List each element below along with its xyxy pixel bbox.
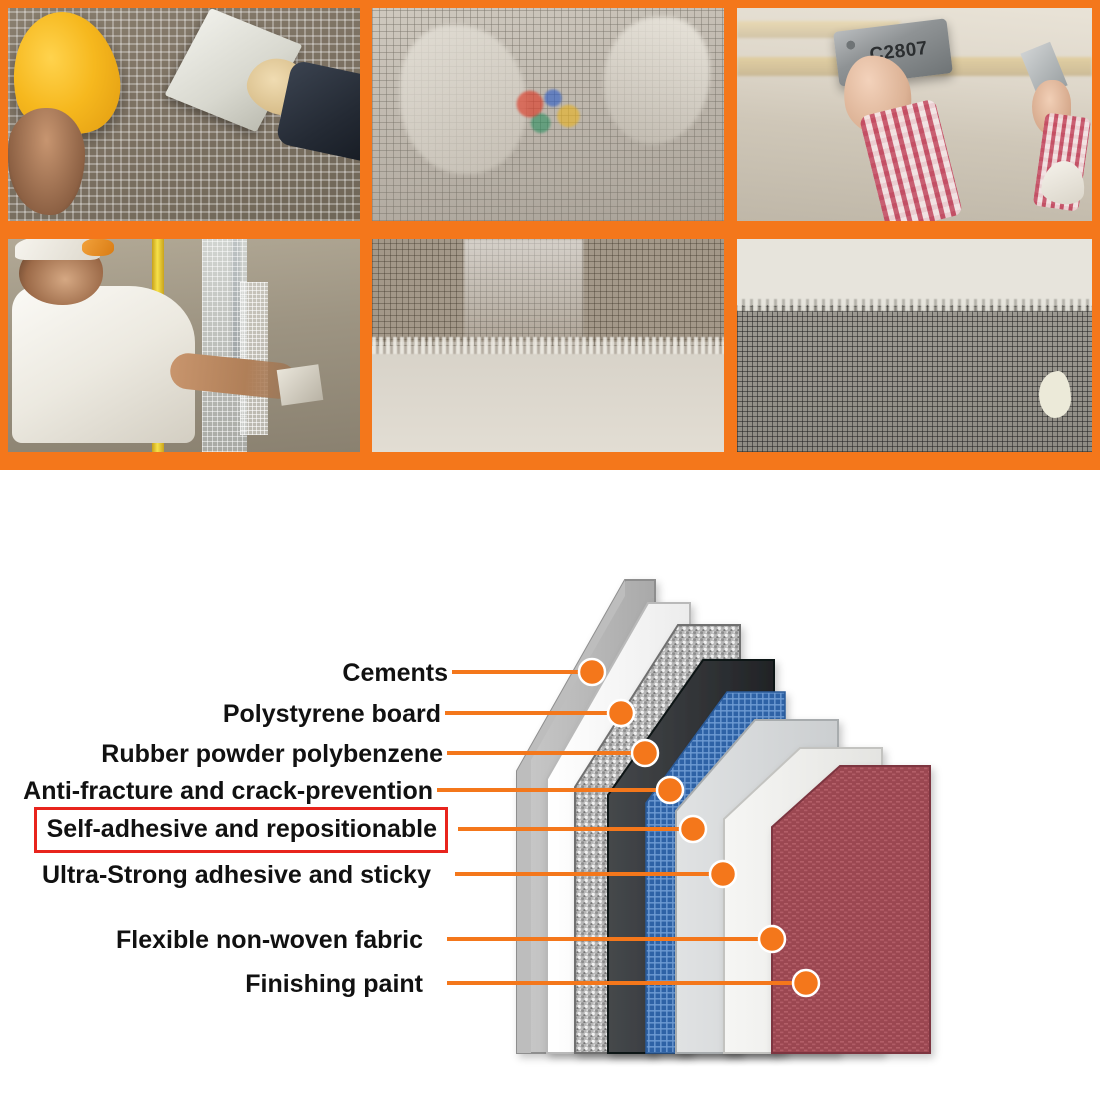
callout-label-polystyrene-board[interactable]: Polystyrene board — [223, 699, 441, 730]
callout-label-flexible-nonwoven-fabric[interactable]: Flexible non-woven fabric — [116, 925, 423, 956]
callout-dot-self-adhesive — [680, 816, 706, 842]
render-edge — [372, 337, 724, 354]
plate-logo-icon — [842, 37, 860, 53]
worker-head — [8, 108, 85, 215]
callout-dot-rubber-powder — [632, 740, 658, 766]
photo-background — [372, 239, 724, 452]
mesh-region — [737, 305, 1092, 452]
callout-label-finishing-paint[interactable]: Finishing paint — [245, 969, 423, 1000]
photo-trowel-mesh[interactable] — [8, 8, 360, 221]
callout-dot-finishing-paint — [793, 970, 819, 996]
callout-dot-ultra-strong — [710, 861, 736, 887]
applications-photo-grid: C2807 — [0, 0, 1100, 470]
worker-shirt — [12, 286, 195, 444]
photo-mesh-half[interactable] — [372, 239, 724, 452]
callout-dot-nonwoven — [759, 926, 785, 952]
callout-dot-anti-fracture — [657, 777, 683, 803]
callout-dot-polystyrene — [608, 700, 634, 726]
callout-label-cements[interactable]: Cements — [342, 658, 448, 689]
cap-brim — [82, 239, 114, 256]
render-edge — [737, 299, 1092, 312]
trowel-tool — [277, 364, 324, 406]
photo-mesh-wall-white[interactable] — [737, 239, 1092, 452]
callout-label-rubber-powder-polybenzene[interactable]: Rubber powder polybenzene — [101, 739, 443, 770]
photo-worker-wall[interactable] — [8, 239, 360, 452]
photo-background — [737, 239, 1092, 452]
callout-label-self-adhesive-repositionable[interactable]: Self-adhesive and repositionable — [34, 807, 448, 853]
callout-dot-cements — [579, 659, 605, 685]
application-page: C2807 — [0, 0, 1100, 1100]
light-reflection — [464, 239, 584, 346]
photo-mesh-closeup[interactable] — [372, 8, 724, 221]
layer-finishing-paint — [772, 766, 930, 1053]
color-print-marks — [513, 80, 590, 140]
callout-labels: Cements Polystyrene board Rubber powder … — [0, 470, 520, 1100]
callout-label-anti-fracture-crack-prevention[interactable]: Anti-fracture and crack-prevention — [23, 776, 433, 807]
photo-ceiling-plate[interactable]: C2807 — [737, 8, 1092, 221]
mortar-blob — [1039, 371, 1071, 418]
callout-label-ultra-strong-adhesive[interactable]: Ultra-Strong adhesive and sticky — [42, 860, 431, 891]
